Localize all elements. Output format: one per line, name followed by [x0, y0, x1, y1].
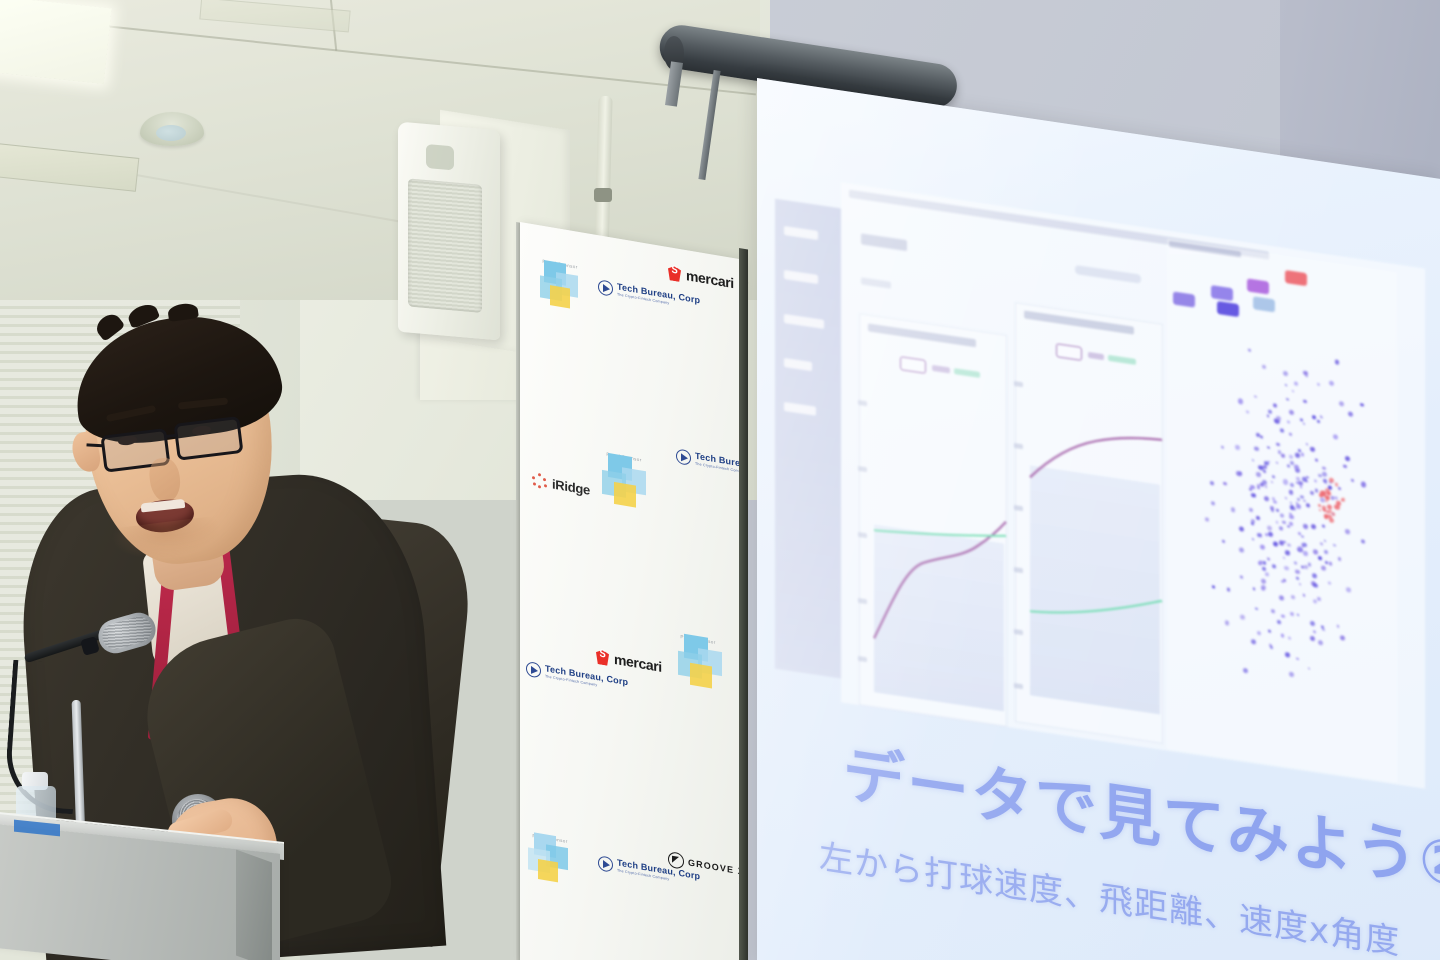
scatter-dot — [1238, 399, 1243, 405]
scatter-dot — [1281, 614, 1284, 618]
scatter-dot — [1225, 621, 1229, 626]
ceiling-light-panel — [0, 0, 112, 84]
scatter-dot-highlight — [1342, 497, 1346, 501]
scatter-dot — [1318, 556, 1323, 561]
scatter-dot — [1313, 583, 1318, 588]
scatter-dot — [1329, 561, 1333, 565]
iridge-icon — [532, 472, 548, 491]
scatter-dot — [1272, 475, 1275, 478]
scatter-dot — [1263, 470, 1266, 473]
scatter-dot — [1268, 630, 1271, 633]
scatter-dot-highlight — [1335, 483, 1339, 487]
scatter-dot — [1289, 512, 1291, 514]
scatter-dot — [1340, 635, 1345, 641]
lens-right — [173, 416, 243, 461]
scatter-legend-chip-1[interactable] — [1173, 291, 1195, 307]
scatter-dot — [1339, 401, 1344, 407]
scatter-dot — [1267, 525, 1272, 531]
scatter-dot — [1308, 563, 1312, 567]
scatter-dot — [1252, 538, 1254, 541]
mercari-icon — [668, 263, 682, 282]
speaker-port — [426, 144, 454, 170]
scatter-dot — [1254, 395, 1257, 398]
scatter-dot — [1296, 576, 1300, 580]
scatter-dot-highlight — [1325, 488, 1330, 494]
scatter-dot — [1303, 551, 1307, 556]
scatter-dot — [1267, 415, 1270, 418]
scatter-dot — [1282, 520, 1286, 524]
scatter-dot — [1335, 359, 1340, 364]
scatter-dot — [1210, 481, 1213, 485]
chart-line-left — [860, 314, 1008, 728]
scatter-dot — [1303, 399, 1307, 403]
scatter-dot — [1321, 565, 1326, 571]
scatter-dot — [1298, 448, 1301, 452]
scatter-dot — [1249, 507, 1254, 512]
scatter-legend-chip-2[interactable] — [1211, 285, 1233, 301]
scatter-dot-highlight — [1323, 509, 1325, 512]
scatter-dot — [1322, 466, 1325, 470]
scatter-dot — [1265, 572, 1269, 576]
scatter-dot — [1310, 447, 1315, 453]
scatter-dot-highlight — [1329, 518, 1334, 524]
scatter-dot — [1291, 595, 1295, 599]
scatter-dot — [1255, 608, 1257, 611]
scatter-dot — [1283, 479, 1288, 485]
scatter-legend-chip-3[interactable] — [1217, 301, 1239, 317]
scatter-dot — [1236, 471, 1241, 477]
scatter-dot — [1301, 453, 1304, 457]
mercari-icon-2 — [596, 647, 610, 666]
scatter-dot — [1306, 476, 1309, 479]
scatter-dot — [1253, 588, 1255, 591]
podium-side-panel — [236, 849, 272, 960]
scatter-dot — [1292, 390, 1294, 393]
scatter-dot — [1284, 565, 1288, 570]
scatter-dot — [1212, 586, 1214, 589]
scatter-dot — [1270, 506, 1274, 510]
scatter-dot — [1288, 636, 1291, 639]
scatter-dot — [1337, 625, 1340, 628]
scatter-dot — [1257, 533, 1261, 538]
pipe-joint — [594, 188, 612, 202]
scatter-dot — [1276, 521, 1279, 524]
scatter-dot — [1287, 543, 1290, 547]
scatter-dot — [1289, 522, 1293, 526]
scatter-dot — [1334, 496, 1337, 500]
scatter-dot — [1324, 539, 1327, 542]
logo-square-r3: Panel Sponsor — [676, 630, 720, 691]
scatter-dot — [1361, 539, 1365, 544]
scatter-dot — [1300, 485, 1302, 488]
scatter-dot — [1306, 503, 1310, 508]
scatter-dot — [1287, 525, 1289, 528]
scatter-dot — [1276, 415, 1281, 420]
scatter-dot — [1268, 532, 1273, 538]
scatter-dot — [1320, 542, 1323, 545]
scatter-dot — [1239, 548, 1244, 553]
scatter-dot — [1322, 472, 1327, 477]
scatter-dot — [1272, 564, 1276, 568]
scatter-dot — [1292, 507, 1296, 511]
scatter-dot — [1351, 479, 1353, 482]
scatter-dot — [1310, 621, 1315, 627]
scatter-dot — [1280, 428, 1284, 432]
scatter-dot — [1308, 667, 1310, 670]
scatter-dot — [1248, 348, 1251, 352]
scatter-dot — [1317, 419, 1320, 422]
scatter-dot — [1211, 501, 1216, 507]
scatter-dot — [1312, 415, 1316, 420]
scatter-dot — [1296, 657, 1299, 660]
projected-dashboard — [775, 173, 1425, 809]
scatter-dot — [1303, 524, 1308, 529]
tech-bureau-icon — [598, 279, 613, 297]
scatter-dot — [1240, 614, 1245, 620]
scatter-dot — [1276, 461, 1278, 463]
scatter-dot — [1300, 418, 1303, 421]
scatter-dot — [1325, 561, 1327, 564]
scatter-dot — [1250, 484, 1254, 489]
scatter-dot — [1254, 446, 1258, 451]
scatter-dot — [1243, 668, 1248, 674]
scatter-dot — [1281, 453, 1285, 457]
scatter-dot — [1256, 472, 1260, 477]
scatter-dot — [1239, 526, 1244, 532]
scatter-dot — [1343, 464, 1347, 468]
scatter-dot — [1296, 481, 1298, 483]
scatter-dot — [1261, 579, 1266, 585]
scatter-dot — [1322, 525, 1325, 528]
scatter-dot — [1273, 500, 1276, 504]
scatter-legend-chip-6[interactable] — [1285, 270, 1307, 286]
scatter-dot — [1338, 557, 1341, 561]
scatter-dot-highlight — [1329, 477, 1334, 483]
scatter-dot — [1281, 634, 1284, 638]
scatter-dot — [1257, 631, 1261, 636]
scatter-dot — [1301, 543, 1303, 545]
tech-bureau-icon-4 — [598, 855, 613, 873]
tech-bureau-icon-3 — [526, 661, 541, 679]
projection-screen: データで見てみよう② 左から打球速度、飛距離、速度x角度 — [757, 78, 1440, 960]
scatter-dot — [1312, 573, 1317, 579]
scatter-panel — [1167, 239, 1397, 783]
scatter-dot — [1280, 513, 1284, 518]
scatter-dot — [1285, 384, 1287, 386]
scatter-dot — [1324, 550, 1328, 555]
scatter-dot — [1281, 580, 1284, 583]
scatter-dot — [1278, 450, 1281, 454]
presentation-photo: データで見てみよう② 左から打球速度、飛距離、速度x角度 Panel Spons… — [0, 0, 1440, 960]
speaker-grille — [408, 178, 482, 312]
scatter-dot — [1227, 588, 1231, 592]
scatter-dot — [1256, 516, 1260, 521]
scatter-dot — [1290, 501, 1292, 503]
scatter-dot — [1301, 535, 1304, 538]
scatter-dot — [1306, 443, 1308, 445]
scatter-dot — [1246, 411, 1249, 414]
scatter-dot — [1268, 460, 1270, 463]
scatter-dot — [1268, 409, 1272, 414]
scatter-dot — [1289, 433, 1292, 437]
scatter-dot — [1310, 636, 1315, 642]
scatter-dot — [1317, 597, 1321, 602]
scatter-dot — [1265, 485, 1267, 487]
logo-mercari-r3: mercari — [596, 647, 662, 675]
scatter-dot — [1277, 620, 1281, 624]
scatter-dot — [1221, 446, 1224, 450]
scatter-dot — [1251, 639, 1256, 645]
scatter-dot — [1279, 526, 1283, 531]
scatter-dot — [1303, 370, 1307, 375]
scatter-dot — [1333, 434, 1338, 440]
scatter-dot — [1303, 594, 1306, 597]
chart-panel-left — [859, 313, 1007, 727]
tech-bureau-icon-2 — [676, 448, 691, 466]
scatter-dot-highlight — [1332, 512, 1336, 516]
scatter-dot — [1267, 558, 1270, 561]
scatter-legend-chip-4[interactable] — [1247, 278, 1269, 294]
scatter-dot — [1285, 497, 1288, 500]
groovex-icon — [668, 851, 684, 870]
scatter-dot — [1290, 482, 1295, 487]
banner-right-edge — [739, 248, 748, 960]
scatter-dot — [1323, 478, 1327, 482]
scatter-dot — [1338, 487, 1341, 491]
scatter-dot — [1315, 489, 1318, 493]
scatter-dot — [1318, 640, 1323, 646]
scatter-dot — [1273, 541, 1278, 547]
logo-square-r2: Panel Sponsor — [602, 448, 646, 509]
scatter-dot — [1287, 420, 1290, 424]
scatter-dot — [1294, 561, 1297, 564]
scatter-dot — [1322, 628, 1324, 631]
scatter-dot — [1223, 482, 1227, 486]
scatter-dot — [1310, 490, 1314, 495]
scatter-dot — [1299, 583, 1301, 585]
scatter-dot — [1262, 364, 1266, 369]
scatter-dot — [1285, 652, 1290, 657]
scatter-dot — [1311, 524, 1316, 530]
scatter-dot — [1260, 435, 1263, 439]
scatter-dot — [1262, 567, 1266, 572]
scatter-dot — [1361, 482, 1366, 488]
scatter-dot — [1264, 496, 1269, 502]
scatter-dot — [1303, 499, 1306, 502]
scatter-dot — [1314, 479, 1317, 483]
scatter-dot — [1303, 423, 1306, 426]
scatter-dot — [1345, 529, 1349, 534]
scatter-dot — [1289, 410, 1294, 416]
scatter-dot — [1315, 458, 1318, 461]
sponsor-banner: Panel Sponsor Tech Bureau, Corp The Cryp… — [520, 222, 742, 960]
scatter-point-cloud — [1167, 239, 1397, 273]
scatter-dot — [1348, 411, 1353, 417]
scatter-dot — [1295, 452, 1300, 457]
mercari-name: mercari — [686, 267, 734, 291]
scatter-dot — [1276, 509, 1279, 513]
scatter-dot — [1317, 383, 1320, 386]
chart-line-middle — [1016, 303, 1164, 745]
logo-square-r1: Panel Sponsor — [538, 255, 582, 316]
scatter-dot — [1290, 612, 1294, 617]
scatter-dot — [1289, 672, 1294, 677]
scatter-dot — [1331, 496, 1334, 500]
scatter-dot — [1271, 481, 1273, 483]
scatter-dot — [1295, 569, 1299, 574]
logo-tech-bureau-r2: Tech Bureau, Corp The Crypto-Fintech Com… — [676, 448, 742, 480]
scatter-dot — [1267, 446, 1270, 449]
scatter-dot — [1231, 507, 1235, 512]
scatter-dot-highlight — [1318, 504, 1321, 508]
scatter-dot — [1313, 630, 1316, 634]
scatter-dot — [1321, 416, 1323, 418]
scatter-dot — [1205, 517, 1208, 521]
scatter-dot — [1285, 550, 1289, 555]
scatter-dot-highlight — [1334, 505, 1339, 511]
scatter-dot — [1260, 482, 1264, 487]
scatter-dot — [1360, 403, 1364, 407]
mercari-name-2: mercari — [614, 650, 662, 674]
scatter-dot — [1296, 503, 1301, 509]
scatter-dot — [1273, 403, 1277, 408]
scatter-dot — [1260, 544, 1265, 550]
scatter-dot — [1276, 442, 1280, 447]
scatter-dot — [1345, 456, 1350, 461]
scatter-dot-highlight — [1327, 504, 1332, 510]
logo-iridge-r2: iRidge — [532, 472, 590, 498]
scatter-dot-highlight — [1324, 514, 1329, 519]
logo-tech-bureau-r1: Tech Bureau, Corp The Crypto-Fintech Com… — [598, 279, 700, 311]
scatter-dot — [1283, 371, 1288, 377]
scatter-dot — [1251, 493, 1256, 498]
logo-mercari-r1: mercari — [668, 263, 734, 291]
scatter-dot — [1297, 613, 1300, 616]
scatter-dot — [1287, 464, 1290, 467]
scatter-dot — [1294, 381, 1298, 385]
scatter-dot — [1222, 539, 1225, 542]
scatter-dot — [1263, 561, 1266, 565]
chart-panel-middle — [1015, 302, 1163, 744]
scatter-dot — [1252, 459, 1254, 461]
scatter-dot — [1329, 381, 1334, 387]
smoke-detector-icon — [140, 112, 204, 146]
scatter-dot — [1346, 587, 1350, 592]
scatter-dot — [1294, 465, 1299, 471]
scatter-dot — [1300, 495, 1304, 499]
scatter-dot — [1289, 514, 1293, 519]
scatter-dot — [1283, 557, 1285, 559]
scatter-dot — [1289, 455, 1292, 459]
scatter-dot — [1271, 609, 1275, 614]
scatter-legend-chip-5[interactable] — [1253, 296, 1275, 312]
scatter-dot — [1270, 646, 1273, 650]
scatter-dot — [1235, 445, 1240, 450]
logo-square-r4: Panel Sponsor — [528, 829, 572, 890]
scatter-dot — [1296, 477, 1299, 481]
scatter-dot — [1318, 474, 1321, 478]
scatter-dot — [1333, 544, 1336, 547]
scatter-dot-highlight — [1325, 500, 1328, 503]
scatter-dot — [1251, 519, 1255, 523]
scatter-dot — [1328, 581, 1331, 584]
scatter-dot — [1313, 549, 1317, 554]
scatter-dot — [1286, 398, 1288, 401]
scatter-dot-highlight — [1319, 493, 1323, 498]
iridge-name: iRidge — [552, 476, 590, 497]
scatter-dot — [1261, 584, 1266, 590]
scatter-dot — [1240, 575, 1243, 578]
scatter-dot — [1279, 595, 1284, 601]
scatter-dot — [1297, 498, 1300, 502]
